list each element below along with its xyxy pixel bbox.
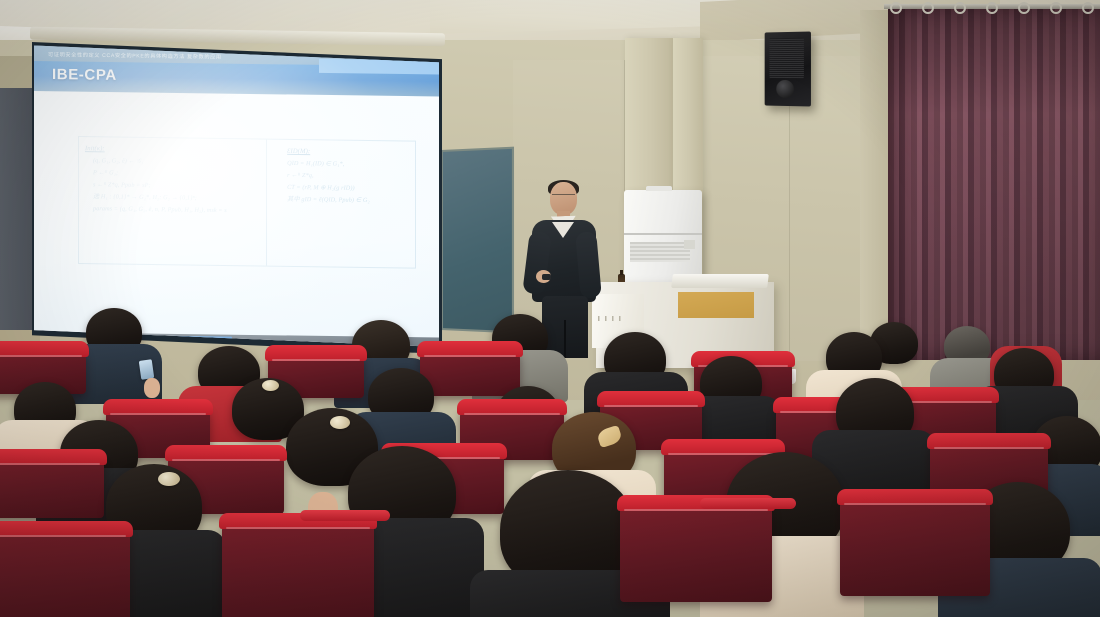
air-conditioner-grill bbox=[630, 242, 690, 262]
curtain-ring bbox=[922, 2, 934, 14]
seat bbox=[0, 528, 130, 617]
audience-area bbox=[0, 320, 1100, 617]
curtain-rings bbox=[890, 2, 1096, 16]
seat bbox=[840, 496, 990, 596]
seat bbox=[222, 520, 374, 617]
window-curtain bbox=[888, 8, 1100, 360]
loudspeaker-icon bbox=[765, 31, 811, 106]
curtain-ring bbox=[954, 2, 966, 14]
hair-clip bbox=[158, 472, 180, 486]
lecture-hall-photo: 可证明安全性的定义 CCA安全的PKE的具体构造方法 复杂数的应用 IBE-CP… bbox=[0, 0, 1100, 617]
left-wall-dark-edge bbox=[0, 88, 36, 350]
projection-screen[interactable]: 可证明安全性的定义 CCA安全的PKE的具体构造方法 复杂数的应用 IBE-CP… bbox=[34, 44, 439, 350]
seat bbox=[0, 456, 104, 518]
slide-math-box: Init(κ): (q, G₁, G₂, ê) ← 𝒢₁ P ←ᴿ G₁; s … bbox=[78, 136, 416, 269]
hair-clip bbox=[330, 416, 350, 429]
presentation-clicker bbox=[542, 274, 551, 280]
smartphone[interactable] bbox=[139, 359, 155, 380]
curtain-ring bbox=[1050, 2, 1062, 14]
slide-math-right-column: ƐID(M): QID = H₁(ID) ∈ G₁*, r ←ᴿ Z*q, CT… bbox=[267, 140, 415, 268]
air-conditioner-badge bbox=[684, 240, 695, 249]
lectern-top bbox=[671, 274, 769, 288]
init-line: params = (q, G₁, G₂, ê, n, P, Ppub, H₁, … bbox=[85, 203, 260, 217]
audience-hand bbox=[144, 378, 160, 398]
seat-armrest bbox=[300, 510, 390, 521]
chalkboard bbox=[441, 147, 514, 334]
slide-title: IBE-CPA bbox=[52, 66, 117, 84]
slide-math-left-column: Init(κ): (q, G₁, G₂, ê) ← 𝒢₁ P ←ᴿ G₁; s … bbox=[79, 137, 267, 266]
curtain-shading bbox=[888, 8, 1100, 360]
air-conditioner-top bbox=[646, 186, 672, 191]
seat bbox=[620, 502, 772, 602]
hair-clip bbox=[262, 380, 279, 391]
curtain-ring bbox=[890, 2, 902, 14]
glasses-icon bbox=[552, 194, 575, 198]
curtain-ring bbox=[986, 2, 998, 14]
wall-column bbox=[625, 38, 673, 198]
seat-armrest bbox=[700, 498, 796, 509]
presenter-right-arm bbox=[575, 231, 602, 299]
curtain-ring bbox=[1082, 2, 1094, 14]
curtain-ring bbox=[1018, 2, 1030, 14]
seat bbox=[420, 348, 520, 396]
lectern-wood-panel bbox=[678, 292, 754, 318]
encrypt-line: 其中 gID = ê(QID, Ppub) ∈ G₂ bbox=[273, 194, 409, 208]
